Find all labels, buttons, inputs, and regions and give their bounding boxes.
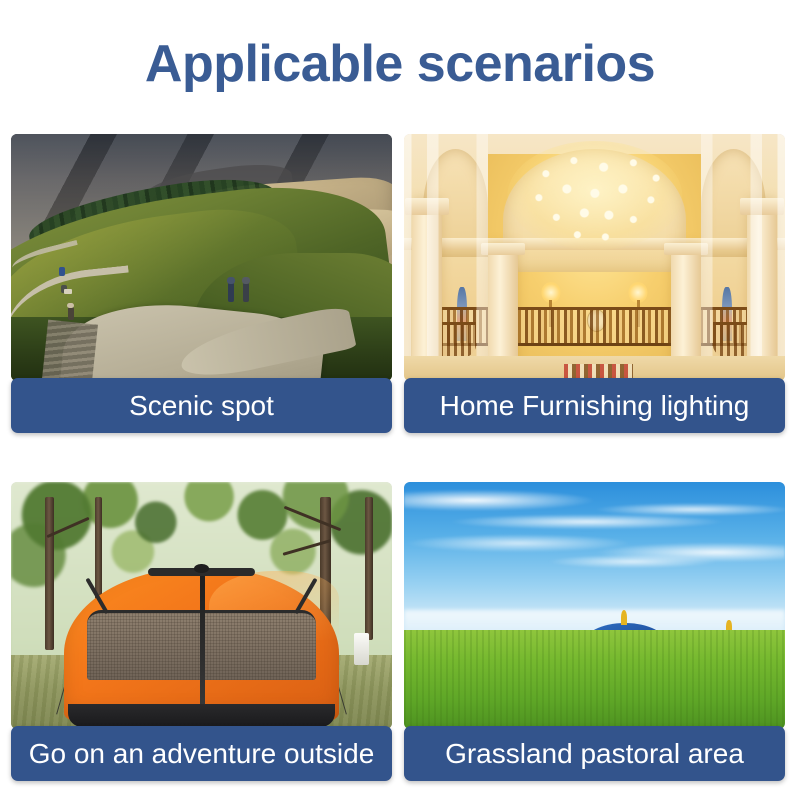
grassland-pastoral-area-caption-bar[interactable]: Grassland pastoral area <box>404 726 785 781</box>
adventure-outside-photo <box>11 482 392 729</box>
grassland-pastoral-area-photo <box>404 482 785 729</box>
adventure-outside-label: Go on an adventure outside <box>21 740 383 768</box>
grassland-yurts-illustration <box>404 482 785 729</box>
home-furnishing-lighting-caption-bar[interactable]: Home Furnishing lighting <box>404 378 785 433</box>
chandelier-interior-illustration <box>404 134 785 381</box>
scenario-card-scenic-spot[interactable]: Scenic spot <box>11 134 392 433</box>
scenario-card-grid: Scenic spot <box>11 134 785 779</box>
grassland-pastoral-area-label: Grassland pastoral area <box>437 740 752 768</box>
page-title: Applicable scenarios <box>0 36 800 93</box>
home-furnishing-lighting-label: Home Furnishing lighting <box>432 392 758 420</box>
scenario-card-adventure-outside[interactable]: Go on an adventure outside <box>11 482 392 781</box>
scenic-spot-photo <box>11 134 392 381</box>
scenic-spot-label: Scenic spot <box>121 392 282 420</box>
scenic-spot-caption-bar[interactable]: Scenic spot <box>11 378 392 433</box>
camping-tent-illustration <box>11 482 392 729</box>
scenarios-page: Applicable scenarios <box>0 0 800 800</box>
scenario-card-home-furnishing-lighting[interactable]: Home Furnishing lighting <box>404 134 785 433</box>
home-furnishing-lighting-photo <box>404 134 785 381</box>
scenario-card-grassland-pastoral-area[interactable]: Grassland pastoral area <box>404 482 785 781</box>
adventure-outside-caption-bar[interactable]: Go on an adventure outside <box>11 726 392 781</box>
mountain-trail-illustration <box>11 134 392 381</box>
